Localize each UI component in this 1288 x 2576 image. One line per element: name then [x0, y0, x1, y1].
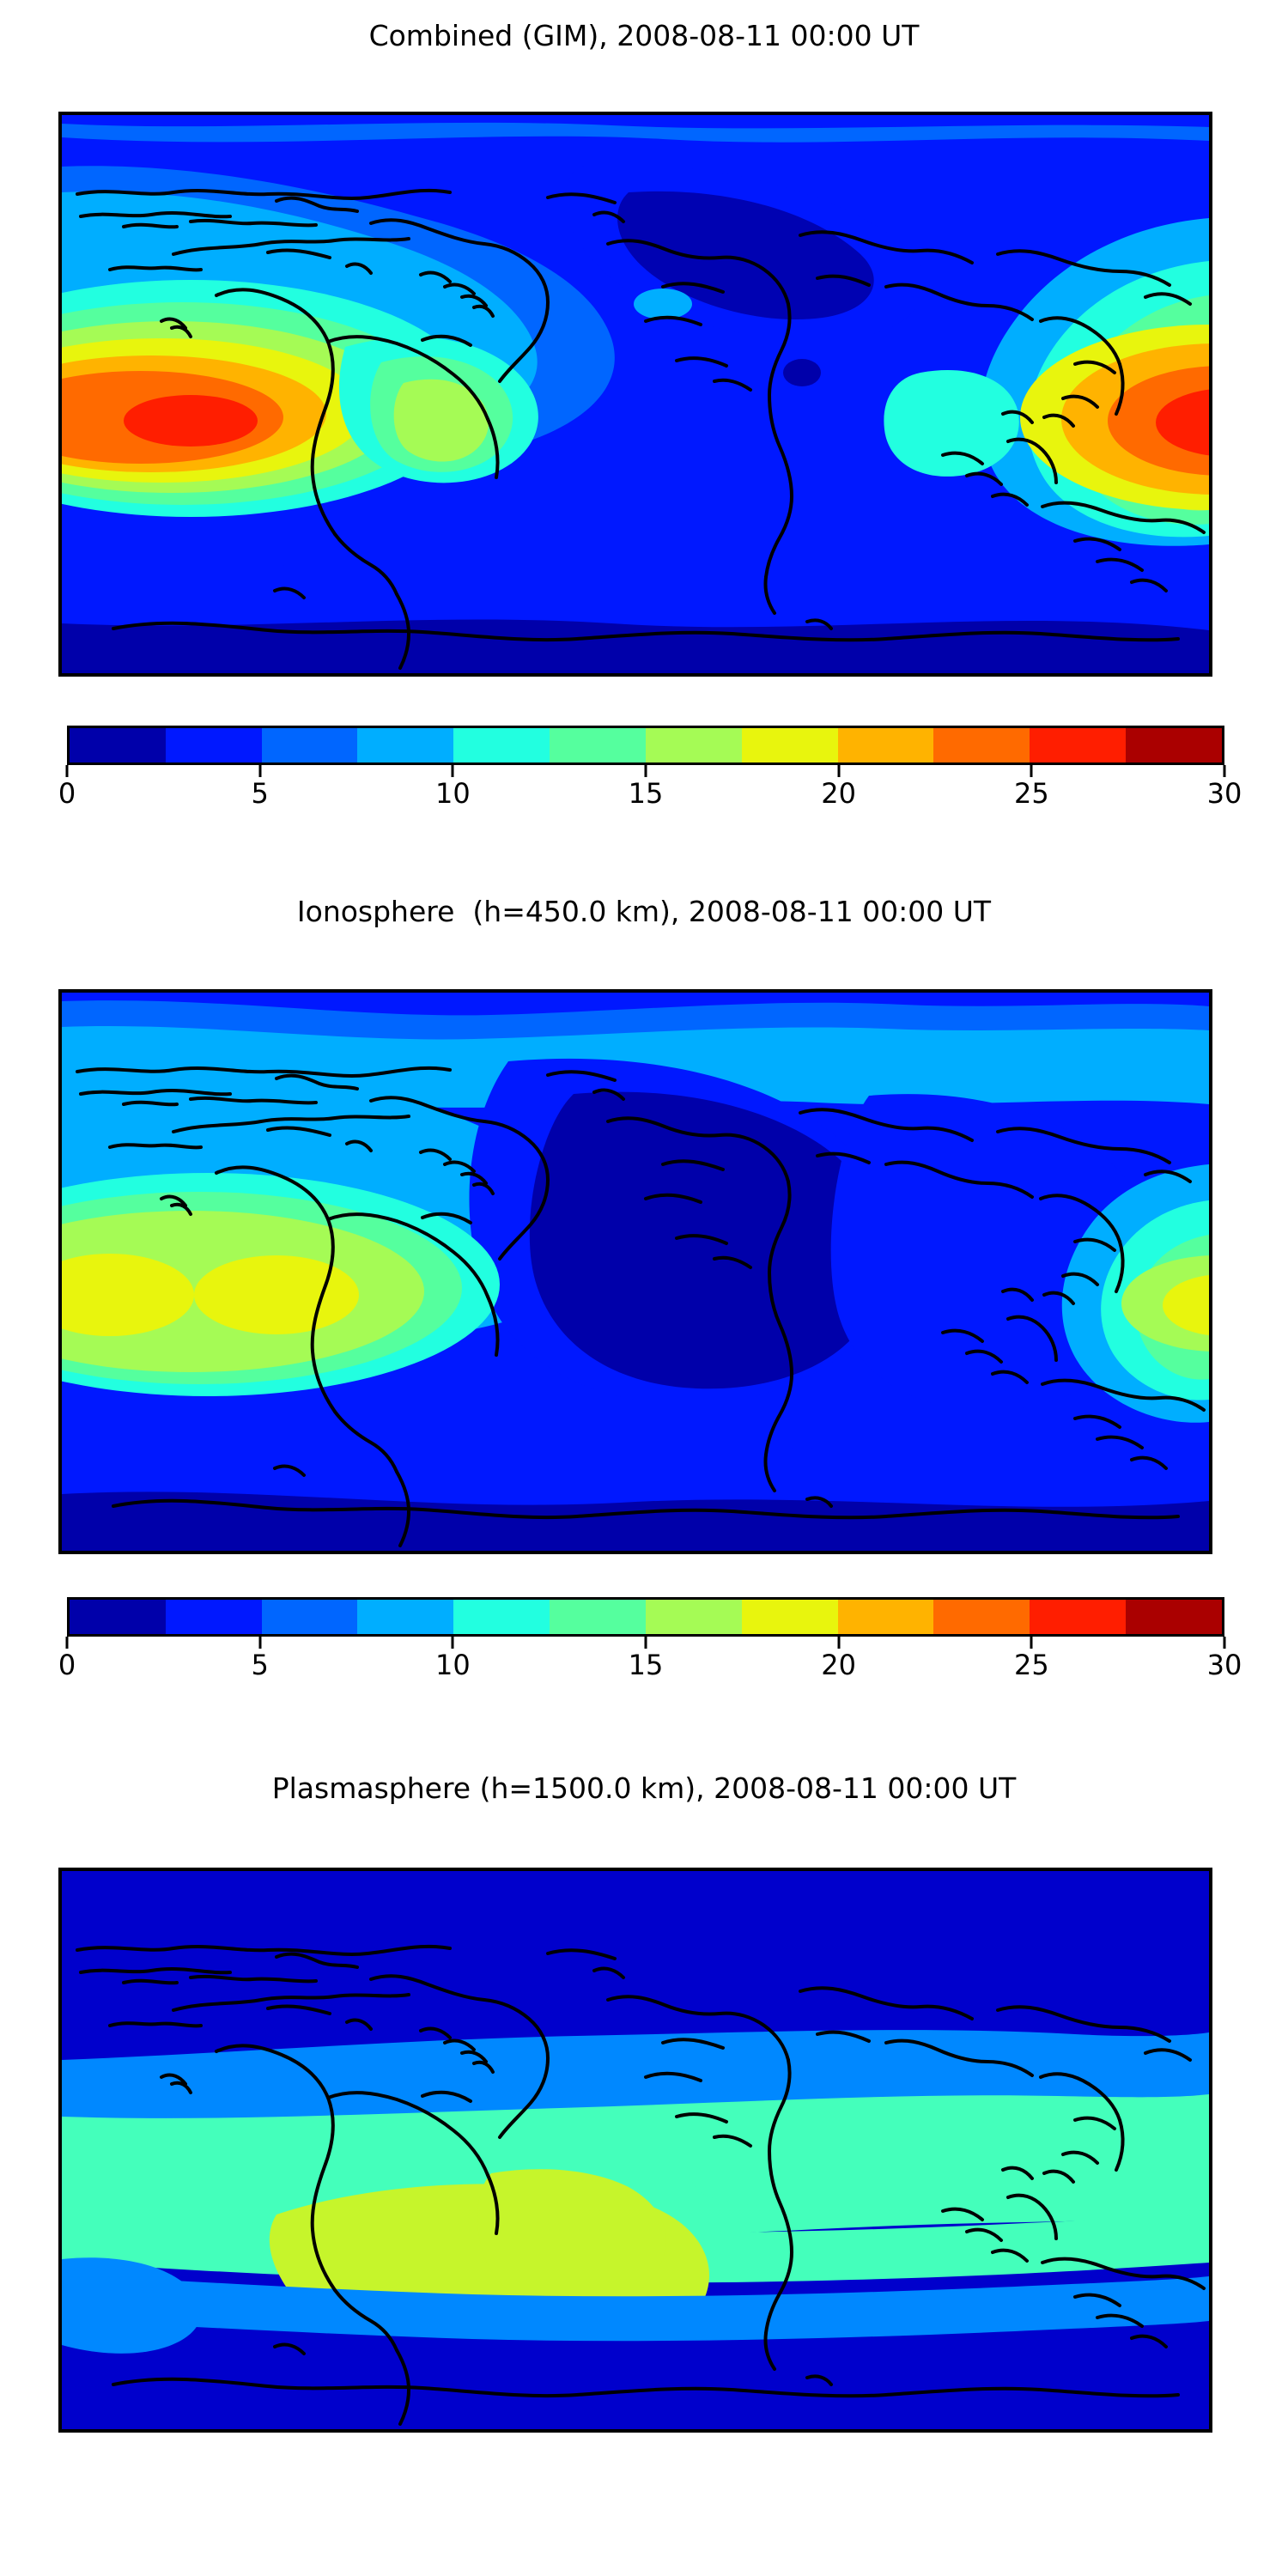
colorbar-tick: [258, 765, 261, 777]
colorbar-tick: [837, 1637, 840, 1649]
map-combined-gim: [58, 112, 1212, 677]
colorbar-segment: [838, 1600, 934, 1634]
map-canvas-ionosphere: [62, 993, 1209, 1551]
colorbar-segment: [262, 728, 358, 762]
colorbar-tick-label: 5: [251, 777, 268, 810]
colorbar-tick-label: 15: [629, 777, 664, 810]
colorbar-segment: [1030, 728, 1126, 762]
colorbar-ticks-ionosphere: [67, 1637, 1224, 1649]
colorbar-strip-ionosphere: [67, 1597, 1224, 1637]
colorbar-tick-labels-ionosphere: 0 5 10 15 20 25 30: [67, 1649, 1224, 1685]
colorbar-tick: [66, 765, 69, 777]
colorbar-tick: [1030, 1637, 1033, 1649]
colorbar-segment: [1030, 1600, 1126, 1634]
colorbar-segment: [838, 728, 934, 762]
colorbar-tick-label: 0: [58, 1649, 76, 1681]
colorbar-segment: [357, 1600, 453, 1634]
colorbar-segment: [453, 728, 550, 762]
colorbar-tick: [66, 1637, 69, 1649]
colorbar-tick-label: 10: [435, 777, 471, 810]
colorbar-tick-label: 20: [821, 1649, 856, 1681]
colorbar-tick: [837, 765, 840, 777]
colorbar-tick-labels-combined: 0 5 10 15 20 25 30: [67, 777, 1224, 813]
colorbar-segment: [166, 1600, 262, 1634]
colorbar-combined: 0 5 10 15 20 25 30: [67, 726, 1224, 820]
colorbar-strip-combined: [67, 726, 1224, 765]
contour-plot-plasmasphere: [62, 1871, 1209, 2429]
colorbar-segment: [357, 728, 453, 762]
colorbar-segment: [262, 1600, 358, 1634]
colorbar-segment: [646, 728, 742, 762]
colorbar-segment: [1126, 1600, 1222, 1634]
colorbar-segment: [933, 1600, 1030, 1634]
colorbar-ionosphere: 0 5 10 15 20 25 30: [67, 1597, 1224, 1692]
colorbar-segment: [646, 1600, 742, 1634]
colorbar-tick-label: 0: [58, 777, 76, 810]
panel-ionosphere: Ionosphere (h=450.0 km), 2008-08-11 00:0…: [0, 859, 1288, 1739]
colorbar-tick: [258, 1637, 261, 1649]
panel-title-plasmasphere: Plasmasphere (h=1500.0 km), 2008-08-11 0…: [0, 1771, 1288, 1805]
map-ionosphere: [58, 989, 1212, 1554]
colorbar-ticks-combined: [67, 765, 1224, 777]
contour-plot-combined: [62, 115, 1209, 673]
map-canvas-combined: [62, 115, 1209, 673]
colorbar-tick-label: 30: [1207, 777, 1242, 810]
colorbar-tick: [1224, 1637, 1226, 1649]
colorbar-tick-label: 30: [1207, 1649, 1242, 1681]
colorbar-tick-label: 25: [1014, 777, 1049, 810]
colorbar-segment: [742, 1600, 838, 1634]
colorbar-segment: [933, 728, 1030, 762]
colorbar-segment: [453, 1600, 550, 1634]
panel-plasmasphere: Plasmasphere (h=1500.0 km), 2008-08-11 0…: [0, 1739, 1288, 2576]
map-canvas-plasmasphere: [62, 1871, 1209, 2429]
colorbar-segment: [70, 1600, 166, 1634]
colorbar-tick: [645, 1637, 647, 1649]
colorbar-tick: [452, 1637, 454, 1649]
map-plasmasphere: [58, 1868, 1212, 2433]
contour-plot-ionosphere: [62, 993, 1209, 1551]
colorbar-tick-label: 10: [435, 1649, 471, 1681]
colorbar-tick-label: 5: [251, 1649, 268, 1681]
colorbar-segment: [742, 728, 838, 762]
colorbar-segment: [550, 1600, 646, 1634]
tec-map-figure: Combined (GIM), 2008-08-11 00:00 UT: [0, 0, 1288, 2576]
colorbar-segment: [70, 728, 166, 762]
panel-combined-gim: Combined (GIM), 2008-08-11 00:00 UT: [0, 0, 1288, 859]
colorbar-tick: [1224, 765, 1226, 777]
panel-title-combined: Combined (GIM), 2008-08-11 00:00 UT: [0, 19, 1288, 52]
colorbar-tick: [645, 765, 647, 777]
colorbar-tick-label: 20: [821, 777, 856, 810]
colorbar-segment: [550, 728, 646, 762]
colorbar-segment: [1126, 728, 1222, 762]
colorbar-tick-label: 15: [629, 1649, 664, 1681]
colorbar-tick-label: 25: [1014, 1649, 1049, 1681]
colorbar-segment: [166, 728, 262, 762]
colorbar-tick: [452, 765, 454, 777]
colorbar-tick: [1030, 765, 1033, 777]
panel-title-ionosphere: Ionosphere (h=450.0 km), 2008-08-11 00:0…: [0, 895, 1288, 928]
